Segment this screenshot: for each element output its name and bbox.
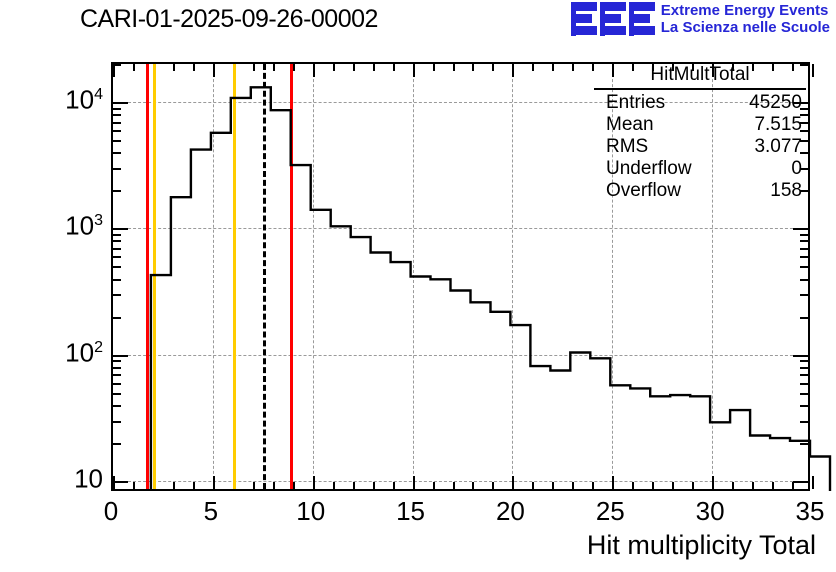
histogram-steps: [0, 0, 836, 572]
histogram-canvas: CARI-01-2025-09-26-00002 Extreme Energy …: [0, 0, 836, 572]
histogram-outline: [151, 87, 830, 491]
